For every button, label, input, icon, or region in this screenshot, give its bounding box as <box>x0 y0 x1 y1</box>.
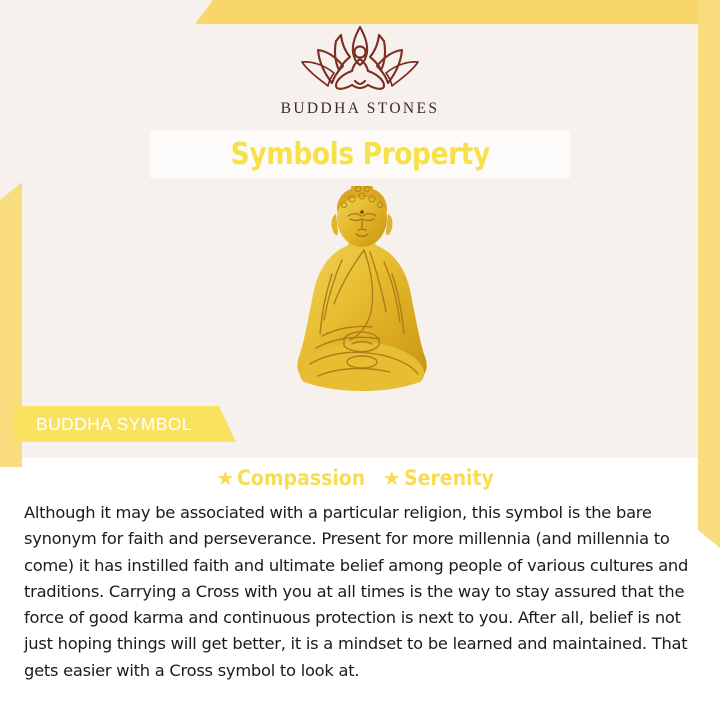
page-title: Symbols Property <box>230 137 489 172</box>
star-icon-right: ★ <box>383 468 401 488</box>
attribute-serenity: Serenity <box>404 466 494 490</box>
lotus-meditation-icon <box>294 24 426 94</box>
top-decorative-band <box>195 0 720 24</box>
description-paragraph: Although it may be associated with a par… <box>24 500 702 684</box>
star-icon-left: ★ <box>216 468 234 488</box>
title-banner: Symbols Property <box>150 130 570 178</box>
brand-name: BUDDHA STONES <box>281 100 440 118</box>
buddha-symbol-tag: BUDDHA SYMBOL <box>14 406 236 442</box>
brand-logo-block: BUDDHA STONES <box>0 24 720 118</box>
buddha-symbol-tag-label: BUDDHA SYMBOL <box>14 414 192 435</box>
golden-seated-buddha-statue <box>272 186 452 404</box>
attribute-compassion: Compassion <box>237 466 365 490</box>
attributes-subtitle: ★ Compassion ★ Serenity <box>0 466 720 490</box>
infographic-page: BUDDHA STONES Symbols Property <box>0 0 720 720</box>
